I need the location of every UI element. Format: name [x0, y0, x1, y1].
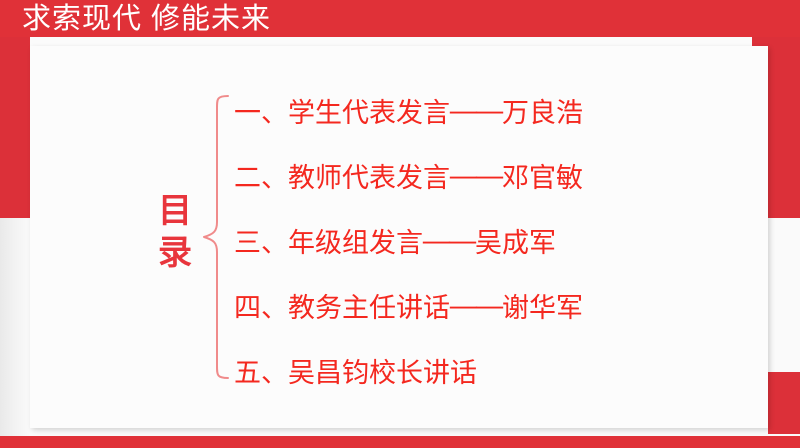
- left-accent-block: [0, 37, 30, 218]
- toc-heading-char-1: 目: [152, 190, 198, 232]
- curly-brace-icon: [203, 94, 229, 380]
- toc-list-item[interactable]: 四、教务主任讲话——谢华军: [234, 273, 734, 338]
- toc-list: 一、学生代表发言——万良浩 二、教师代表发言——邓官敏 三、年级组发言——吴成军…: [234, 78, 734, 403]
- toc-list-item[interactable]: 五、吴昌钧校长讲话: [234, 338, 734, 403]
- slide-title: 求索现代 修能未来: [22, 2, 271, 36]
- toc-item-subject: 年级组发言: [288, 221, 423, 260]
- toc-item-separator: ——: [450, 290, 502, 321]
- toc-item-subject: 吴昌钧校长讲话: [288, 351, 477, 390]
- toc-item-subject: 教务主任讲话: [288, 286, 450, 325]
- toc-item-subject: 学生代表发言: [288, 91, 450, 130]
- toc-list-item[interactable]: 一、学生代表发言——万良浩: [234, 78, 734, 143]
- bottom-accent-bar: [0, 436, 800, 448]
- toc-item-speaker: 邓官敏: [502, 156, 583, 195]
- toc-heading-char-2: 录: [152, 232, 198, 274]
- toc-item-index: 五、: [234, 351, 288, 390]
- toc-item-index: 二、: [234, 156, 288, 195]
- toc-item-subject: 教师代表发言: [288, 156, 450, 195]
- right-bottom-accent-block: [768, 372, 800, 434]
- toc-item-index: 一、: [234, 91, 288, 130]
- toc-item-index: 四、: [234, 286, 288, 325]
- toc-item-speaker: 吴成军: [475, 221, 556, 260]
- toc-item-index: 三、: [234, 221, 288, 260]
- toc-item-separator: ——: [423, 225, 475, 256]
- toc-item-separator: ——: [450, 95, 502, 126]
- presentation-slide: 求索现代 修能未来 目 录 一、学生代表发言——万良浩 二、教师代表发言——邓官…: [0, 0, 800, 448]
- toc-list-item[interactable]: 二、教师代表发言——邓官敏: [234, 143, 734, 208]
- toc-item-separator: ——: [450, 160, 502, 191]
- toc-list-item[interactable]: 三、年级组发言——吴成军: [234, 208, 734, 273]
- toc-item-speaker: 谢华军: [502, 286, 583, 325]
- toc-heading: 目 录: [152, 190, 198, 274]
- toc-item-speaker: 万良浩: [502, 91, 583, 130]
